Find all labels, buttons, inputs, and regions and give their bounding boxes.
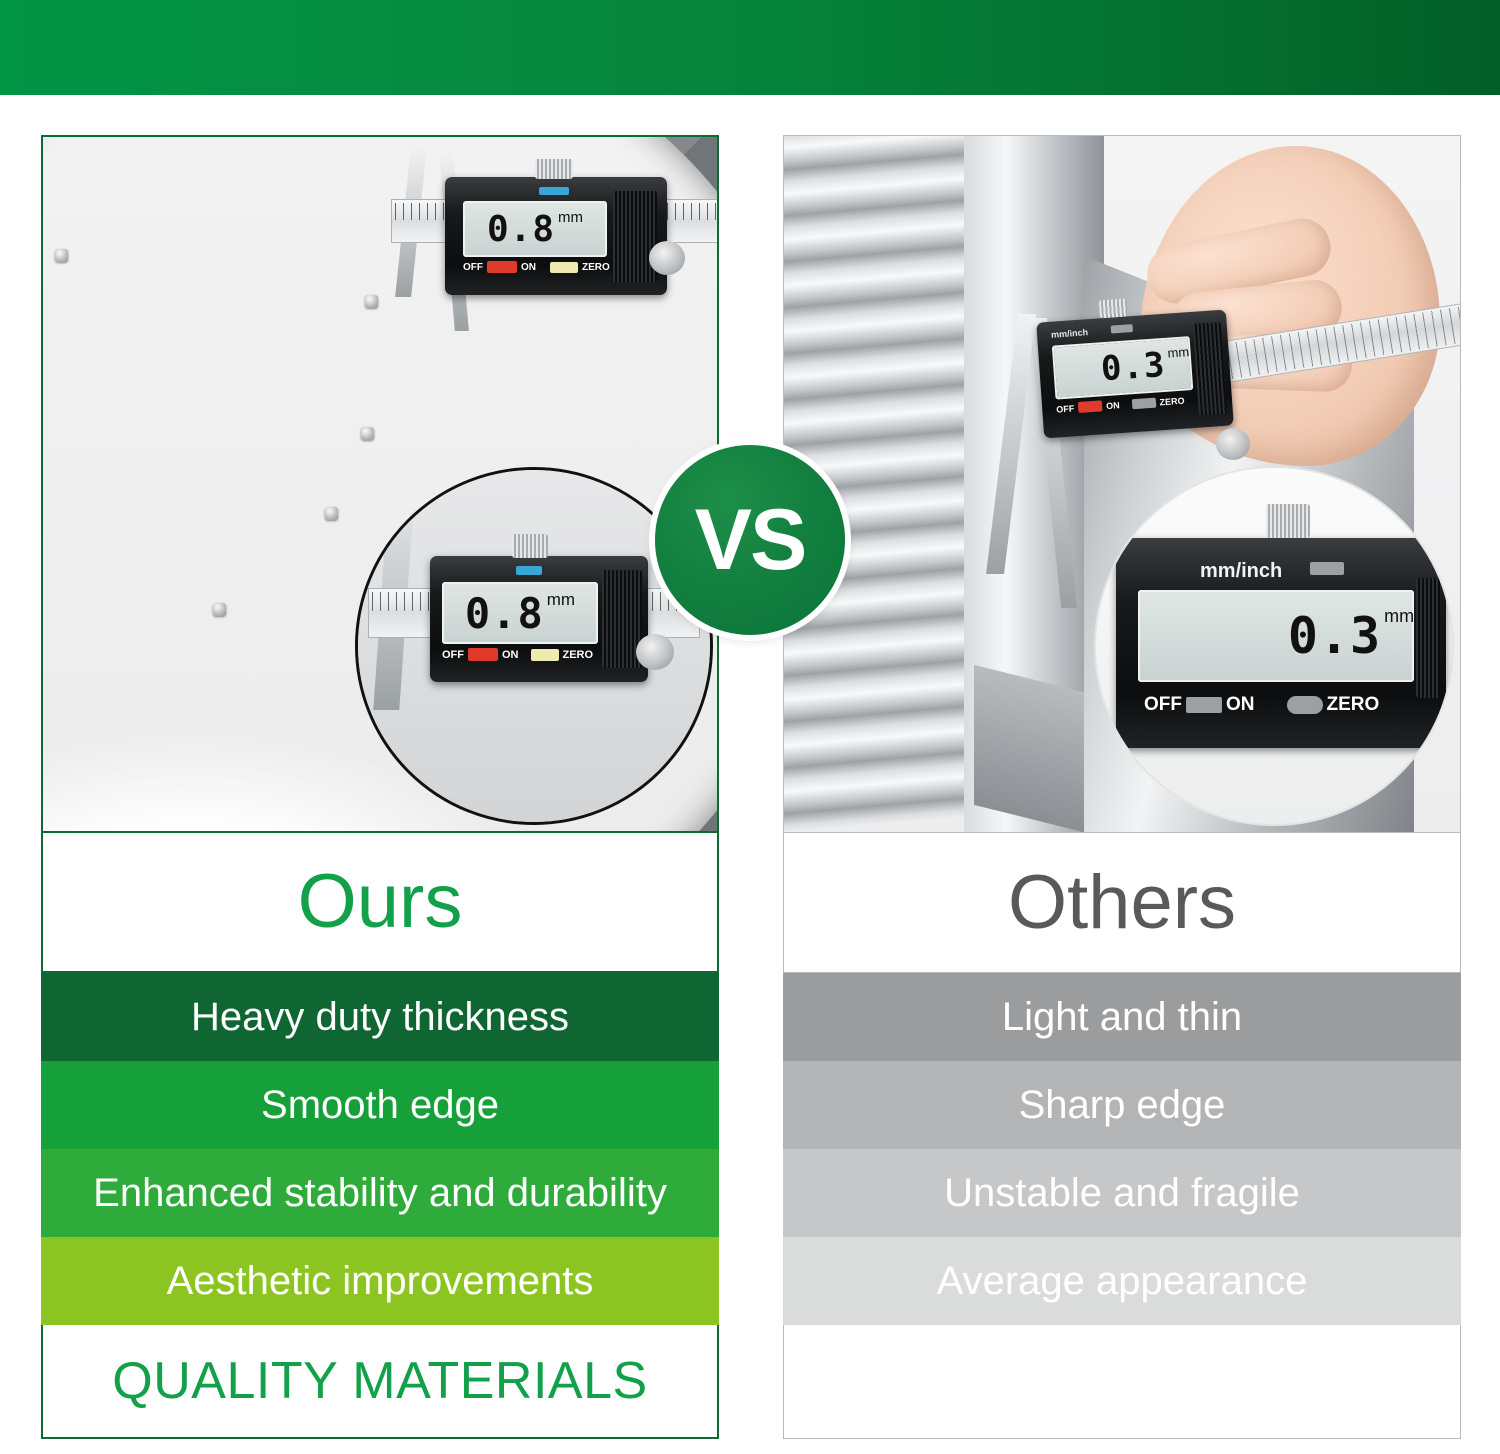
- magnifier-thumb-wheel[interactable]: [636, 634, 674, 670]
- caliper-mode-button[interactable]: [1111, 324, 1134, 334]
- others-product-photo: mm/inch 0.3 mm OFF ON ZERO: [783, 135, 1461, 833]
- caliper-thumb-wheel[interactable]: [1216, 428, 1250, 460]
- magnifier-zero-switch[interactable]: [531, 649, 559, 661]
- ours-feature-label: Aesthetic improvements: [167, 1259, 594, 1304]
- caliper-screw-icon: [535, 159, 573, 179]
- caliper-lcd-display: 0.3 mm: [1052, 336, 1193, 399]
- magnifier-power-switch[interactable]: [468, 648, 498, 661]
- caliper-mode-label: mm/inch: [1051, 327, 1089, 340]
- caliper-off-label: OFF: [463, 262, 483, 273]
- caliper-lcd-display: 0.8 mm: [463, 201, 607, 257]
- caliper-thumb-wheel[interactable]: [649, 241, 685, 275]
- magnifier-caliper-screw-icon: [512, 534, 548, 558]
- caliper-reading-value: 0.3: [1100, 345, 1167, 389]
- caliper-reading-unit: mm: [1167, 344, 1190, 360]
- caliper-reading-value: 0.8: [487, 209, 555, 250]
- magnifier-caliper-head: 0.8 mm OFF ON ZERO: [430, 556, 648, 682]
- magnifier-grip-texture: [1416, 578, 1440, 698]
- others-footer-box: [783, 1325, 1461, 1439]
- others-title-box: Others: [783, 833, 1461, 973]
- caliper-zero-label: ZERO: [1159, 395, 1185, 407]
- ours-feature-label: Enhanced stability and durability: [93, 1171, 667, 1216]
- magnifier-blue-key[interactable]: [516, 566, 542, 575]
- magnifier-button-row: OFF ON ZERO: [1144, 694, 1379, 716]
- ours-feature-row: Aesthetic improvements: [41, 1237, 719, 1325]
- ours-feature-row: Smooth edge: [41, 1061, 719, 1149]
- caliper-reading-unit: mm: [558, 209, 583, 226]
- caliper-grip-texture: [1193, 322, 1227, 416]
- magnifier-reading-unit: mm: [1384, 606, 1414, 627]
- magnifier-button-row: OFF ON ZERO: [442, 648, 593, 661]
- caliper-zero-switch[interactable]: [1131, 397, 1156, 409]
- bolt-icon: [213, 603, 226, 616]
- ours-title: Ours: [298, 864, 463, 940]
- bolt-icon: [361, 427, 374, 440]
- top-green-banner: [0, 0, 1500, 95]
- magnifier-lcd-display: 0.8 mm: [442, 582, 598, 644]
- others-panel: mm/inch 0.3 mm OFF ON ZERO: [783, 135, 1461, 1445]
- others-title: Others: [1008, 865, 1236, 941]
- others-feature-label: Average appearance: [937, 1259, 1308, 1304]
- caliper-head: 0.8 mm OFF ON ZERO: [445, 177, 667, 295]
- comparison-container: 0.8 mm OFF ON ZERO: [0, 95, 1500, 1454]
- vs-label: VS: [695, 497, 806, 583]
- magnifier-mode-button[interactable]: [1310, 562, 1344, 575]
- others-feature-row: Light and thin: [783, 973, 1461, 1061]
- magnifier-off-label: OFF: [442, 649, 464, 661]
- caliper-power-switch[interactable]: [487, 261, 517, 273]
- caliper-zero-label: ZERO: [582, 262, 610, 273]
- others-feature-row: Sharp edge: [783, 1061, 1461, 1149]
- ours-product-photo: 0.8 mm OFF ON ZERO: [41, 135, 719, 833]
- caliper-zero-switch[interactable]: [550, 262, 578, 273]
- magnifier-off-label: OFF: [1144, 694, 1182, 716]
- ours-feature-label: Heavy duty thickness: [191, 995, 569, 1040]
- ours-panel: 0.8 mm OFF ON ZERO: [41, 135, 719, 1445]
- ours-title-box: Ours: [41, 833, 719, 973]
- caliper-off-label: OFF: [1056, 403, 1075, 414]
- others-feature-row: Unstable and fragile: [783, 1149, 1461, 1237]
- caliper-grip-texture: [613, 191, 657, 283]
- magnifier-mode-label: mm/inch: [1200, 560, 1282, 583]
- others-feature-row: Average appearance: [783, 1237, 1461, 1325]
- caliper-on-label: ON: [1106, 400, 1120, 411]
- ours-feature-list: Heavy duty thickness Smooth edge Enhance…: [41, 973, 719, 1325]
- vs-badge: VS: [655, 445, 845, 635]
- caliper-button-row: OFF ON ZERO: [463, 261, 610, 273]
- caliper-screw-icon: [1099, 298, 1128, 318]
- caliper-blue-key[interactable]: [539, 187, 569, 195]
- magnifier-on-label: ON: [1226, 694, 1255, 716]
- caliper-on-label: ON: [521, 262, 536, 273]
- others-feature-label: Unstable and fragile: [944, 1171, 1300, 1216]
- magnifier-reading-unit: mm: [547, 590, 575, 610]
- magnifier-zero-label: ZERO: [1327, 694, 1380, 716]
- others-feature-list: Light and thin Sharp edge Unstable and f…: [783, 973, 1461, 1325]
- magnifier-lcd-display: 0.3 mm: [1138, 590, 1414, 682]
- ours-feature-row: Heavy duty thickness: [41, 973, 719, 1061]
- magnifier-caliper-head: mm/inch 0.3 mm OFF ON ZERO: [1116, 538, 1446, 748]
- quality-materials-label: QUALITY MATERIALS: [112, 1351, 647, 1411]
- others-feature-label: Sharp edge: [1019, 1083, 1226, 1128]
- bolt-icon: [365, 295, 378, 308]
- caliper-head: mm/inch 0.3 mm OFF ON ZERO: [1036, 310, 1234, 439]
- bolt-icon: [325, 507, 338, 520]
- magnifier-on-label: ON: [502, 649, 519, 661]
- ours-feature-row: Enhanced stability and durability: [41, 1149, 719, 1237]
- others-magnifier-inset: mm/inch 0.3 mm OFF ON ZERO: [1094, 466, 1454, 826]
- ours-footer-box: QUALITY MATERIALS: [41, 1325, 719, 1439]
- ours-feature-label: Smooth edge: [261, 1083, 499, 1128]
- magnifier-reading-value: 0.8: [465, 589, 544, 638]
- caliper-power-switch[interactable]: [1078, 400, 1103, 413]
- others-feature-label: Light and thin: [1002, 995, 1242, 1040]
- magnifier-zero-label: ZERO: [563, 649, 594, 661]
- magnifier-caliper-screw-icon: [1266, 504, 1310, 538]
- magnifier-reading-value: 0.3: [1288, 607, 1381, 665]
- magnifier-zero-switch[interactable]: [1287, 696, 1323, 714]
- bolt-icon: [55, 249, 68, 262]
- magnifier-power-switch[interactable]: [1186, 697, 1222, 713]
